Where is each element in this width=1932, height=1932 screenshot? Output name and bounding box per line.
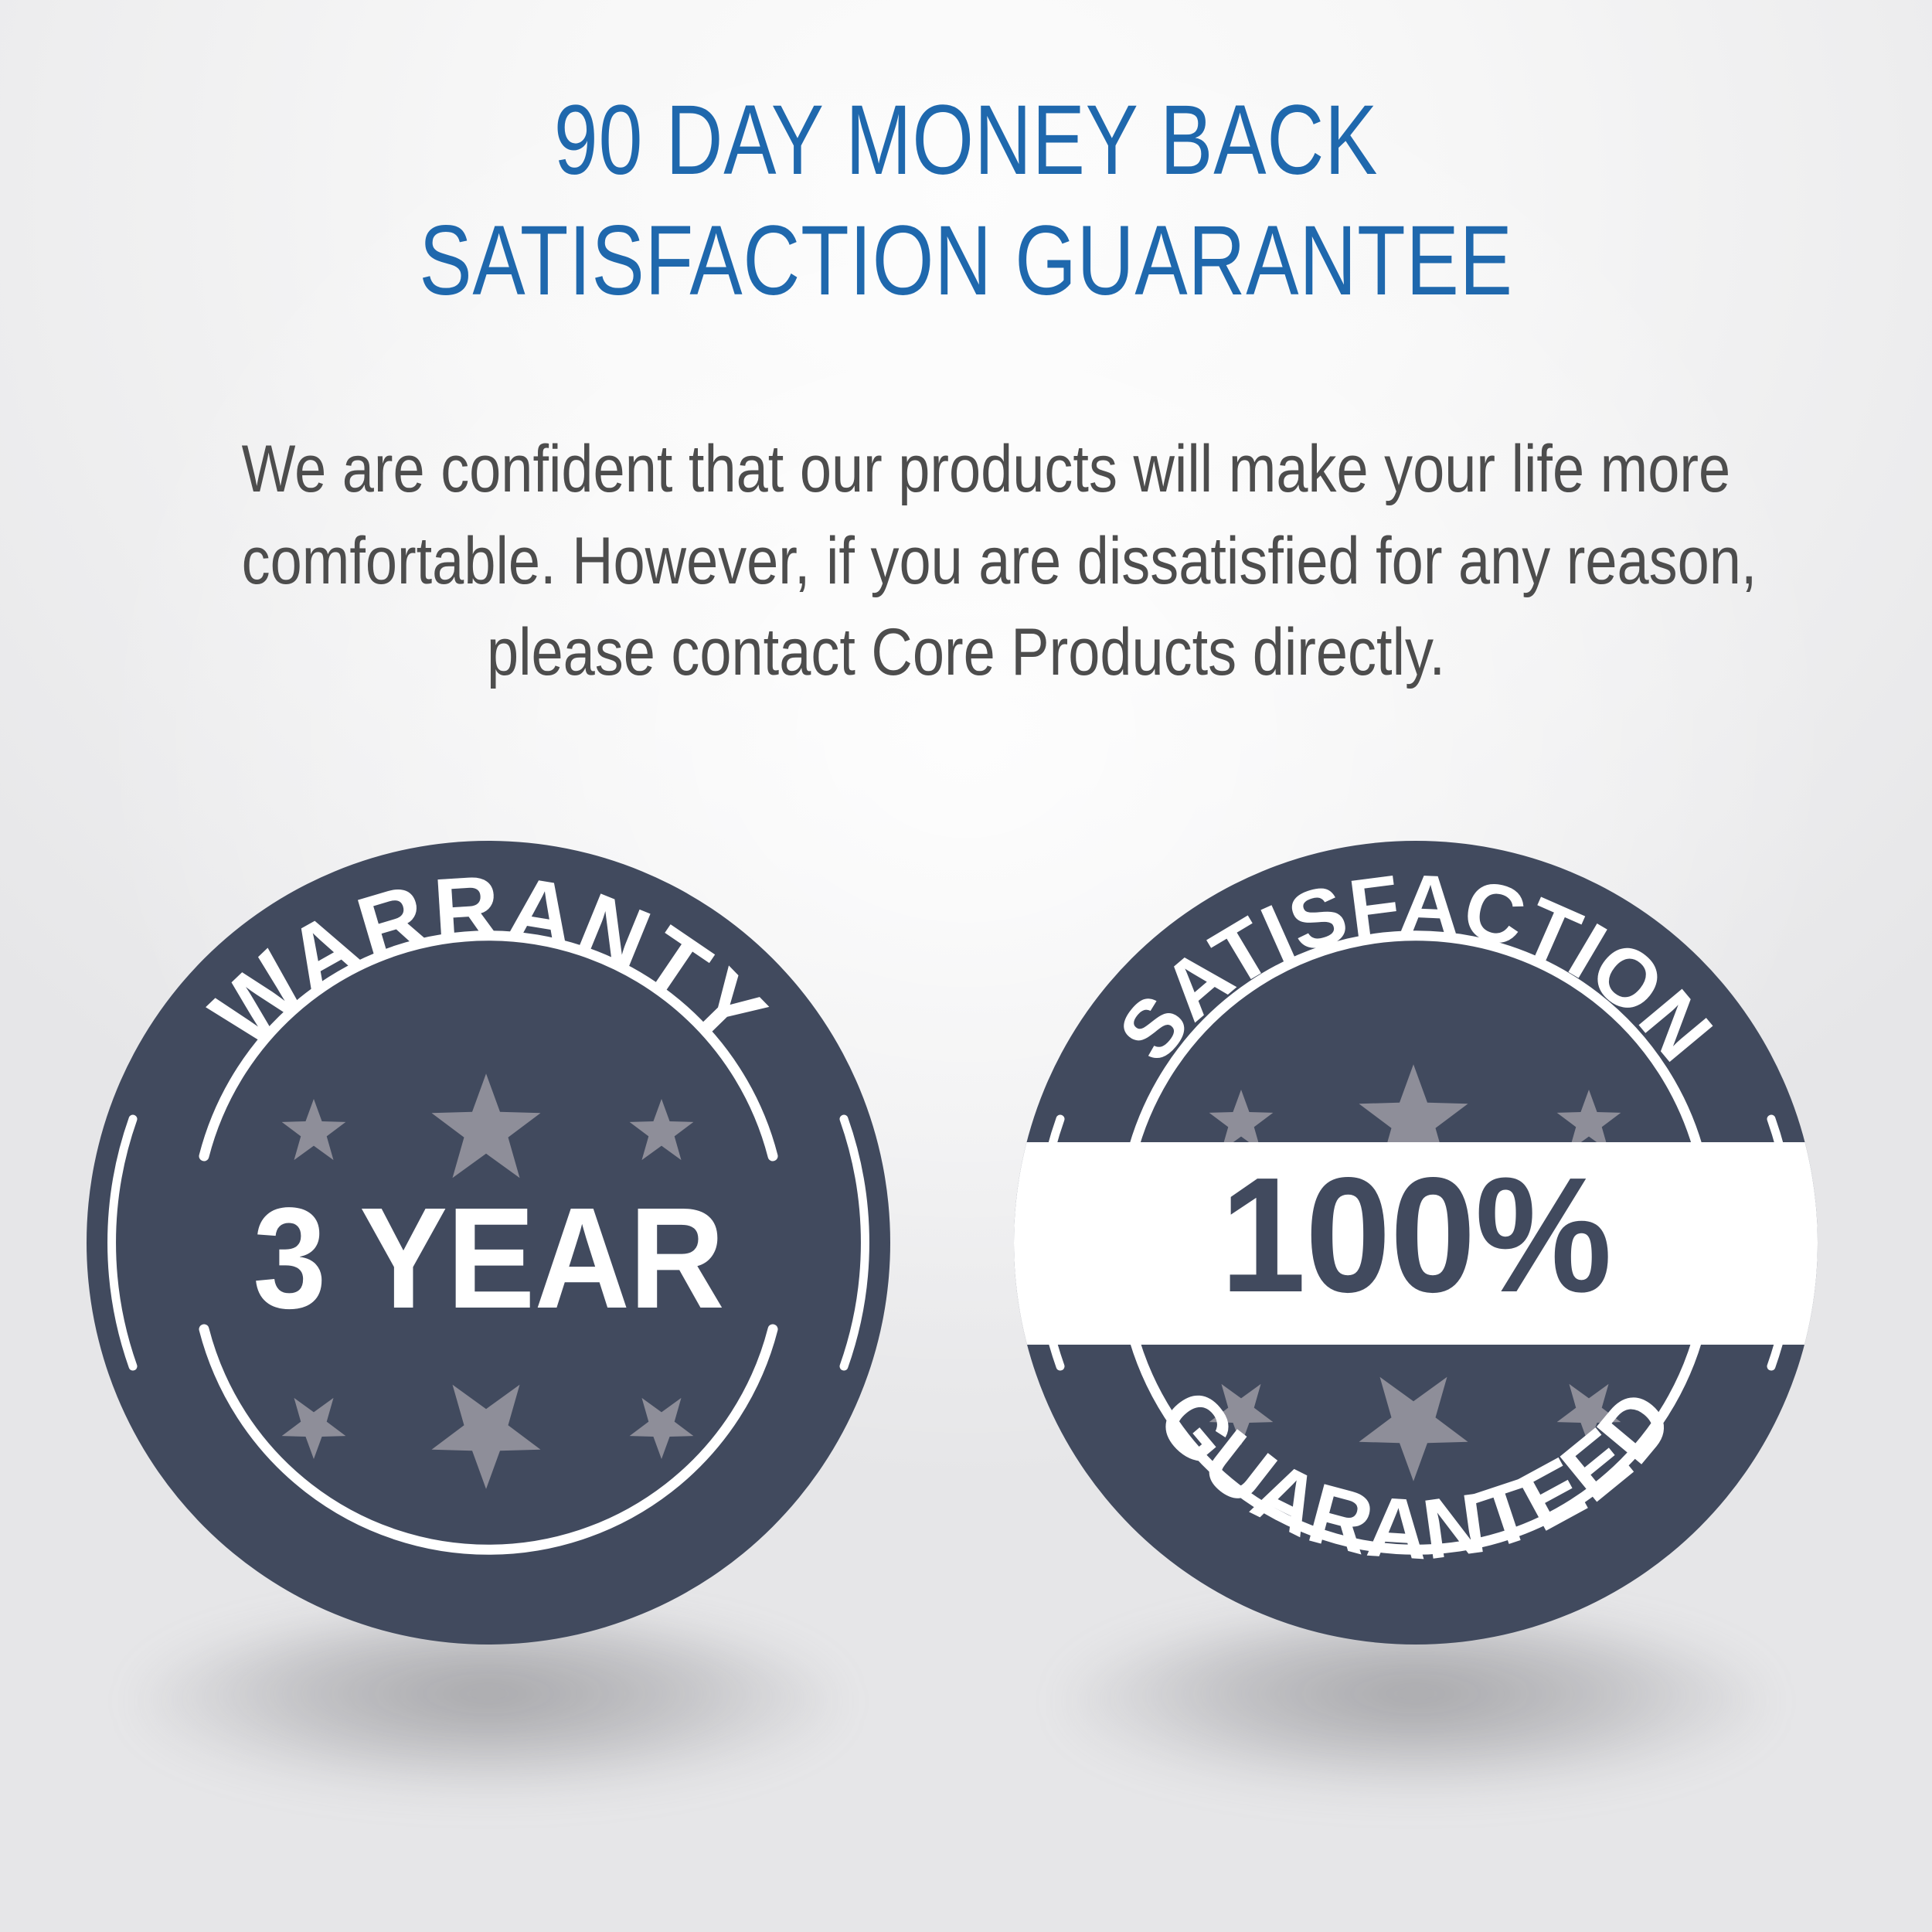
badge-row: WARRANTY 3 YEAR bbox=[0, 835, 1932, 1932]
guarantee-description: We are confident that our products will … bbox=[242, 423, 1691, 699]
guarantee-poster: 90 DAY MONEY BACK SATISFACTION GUARANTEE… bbox=[0, 0, 1932, 1932]
guarantee-description-line-1: We are confident that our products will … bbox=[242, 423, 1691, 515]
guarantee-description-line-2: comfortable. However, if you are dissati… bbox=[242, 515, 1691, 607]
page-title-line-2: SATISFACTION GUARANTEE bbox=[193, 201, 1739, 321]
guarantee-description-line-3: please contact Core Products directly. bbox=[242, 607, 1691, 699]
page-title: 90 DAY MONEY BACK SATISFACTION GUARANTEE bbox=[193, 80, 1739, 321]
warranty-term-label: 3 YEAR bbox=[119, 1187, 859, 1331]
satisfaction-percent-label: 100% bbox=[1038, 1153, 1794, 1317]
satisfaction-badge: SATISFACTION GUARANTEED 100% bbox=[1014, 841, 1818, 1645]
warranty-badge: WARRANTY 3 YEAR bbox=[87, 841, 890, 1645]
page-title-line-1: 90 DAY MONEY BACK bbox=[193, 80, 1739, 201]
